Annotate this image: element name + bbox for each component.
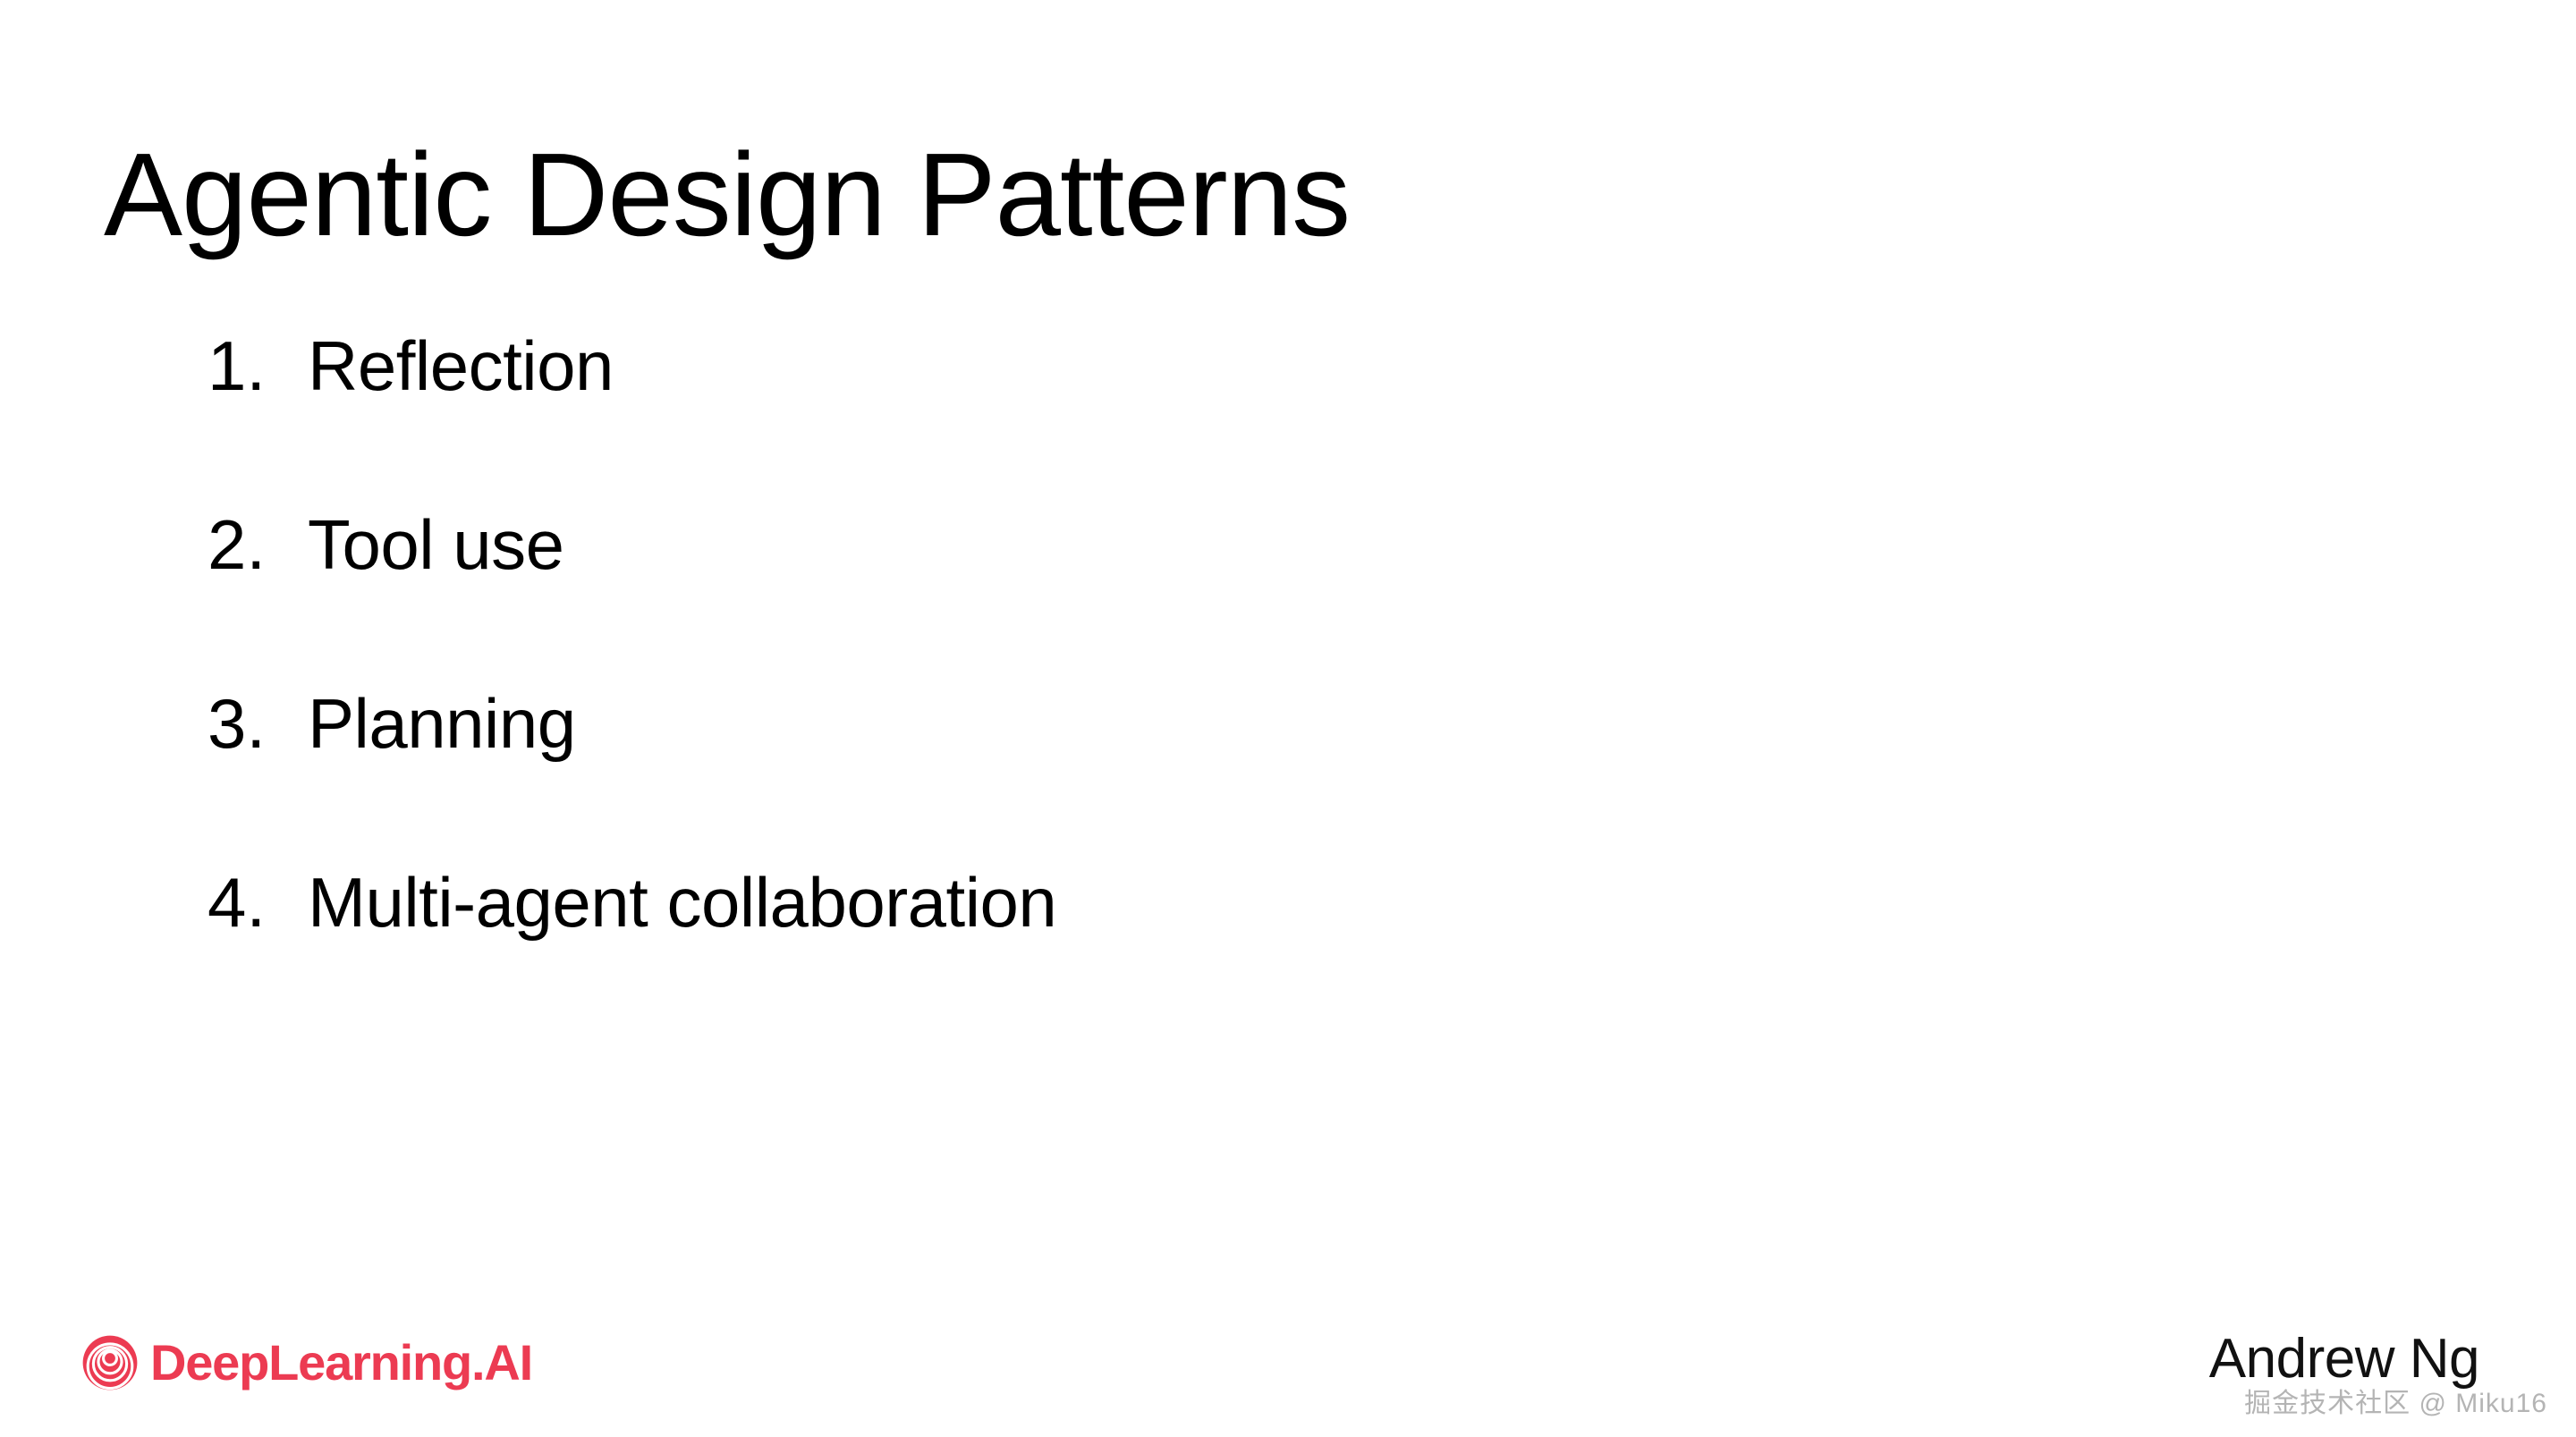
list-item-label: Tool use [308, 510, 564, 579]
list-item: 1. Reflection [208, 331, 1996, 510]
list-item: 2. Tool use [208, 510, 1996, 689]
list-item: 4. Multi-agent collaboration [208, 867, 1996, 1046]
brand-logo: DeepLearning.AI [82, 1335, 532, 1391]
list-item-number: 4. [208, 867, 308, 937]
list-item-label: Reflection [308, 331, 614, 401]
watermark: 掘金技术社区 @ Miku16 [2244, 1391, 2547, 1417]
list-item-number: 3. [208, 689, 308, 758]
author-name: Andrew Ng [2209, 1331, 2479, 1387]
deeplearning-spiral-icon [82, 1335, 138, 1391]
list-item: 3. Planning [208, 689, 1996, 867]
pattern-list: 1. Reflection 2. Tool use 3. Planning 4.… [208, 331, 1996, 1046]
list-item-label: Planning [308, 689, 576, 758]
list-item-number: 1. [208, 331, 308, 401]
list-item-label: Multi-agent collaboration [308, 867, 1056, 937]
page-title: Agentic Design Patterns [104, 125, 1350, 265]
list-item-number: 2. [208, 510, 308, 579]
author-block: Andrew Ng [2209, 1331, 2479, 1387]
brand-wordmark: DeepLearning.AI [150, 1338, 532, 1388]
presentation-slide: Agentic Design Patterns 1. Reflection 2.… [0, 0, 2576, 1437]
